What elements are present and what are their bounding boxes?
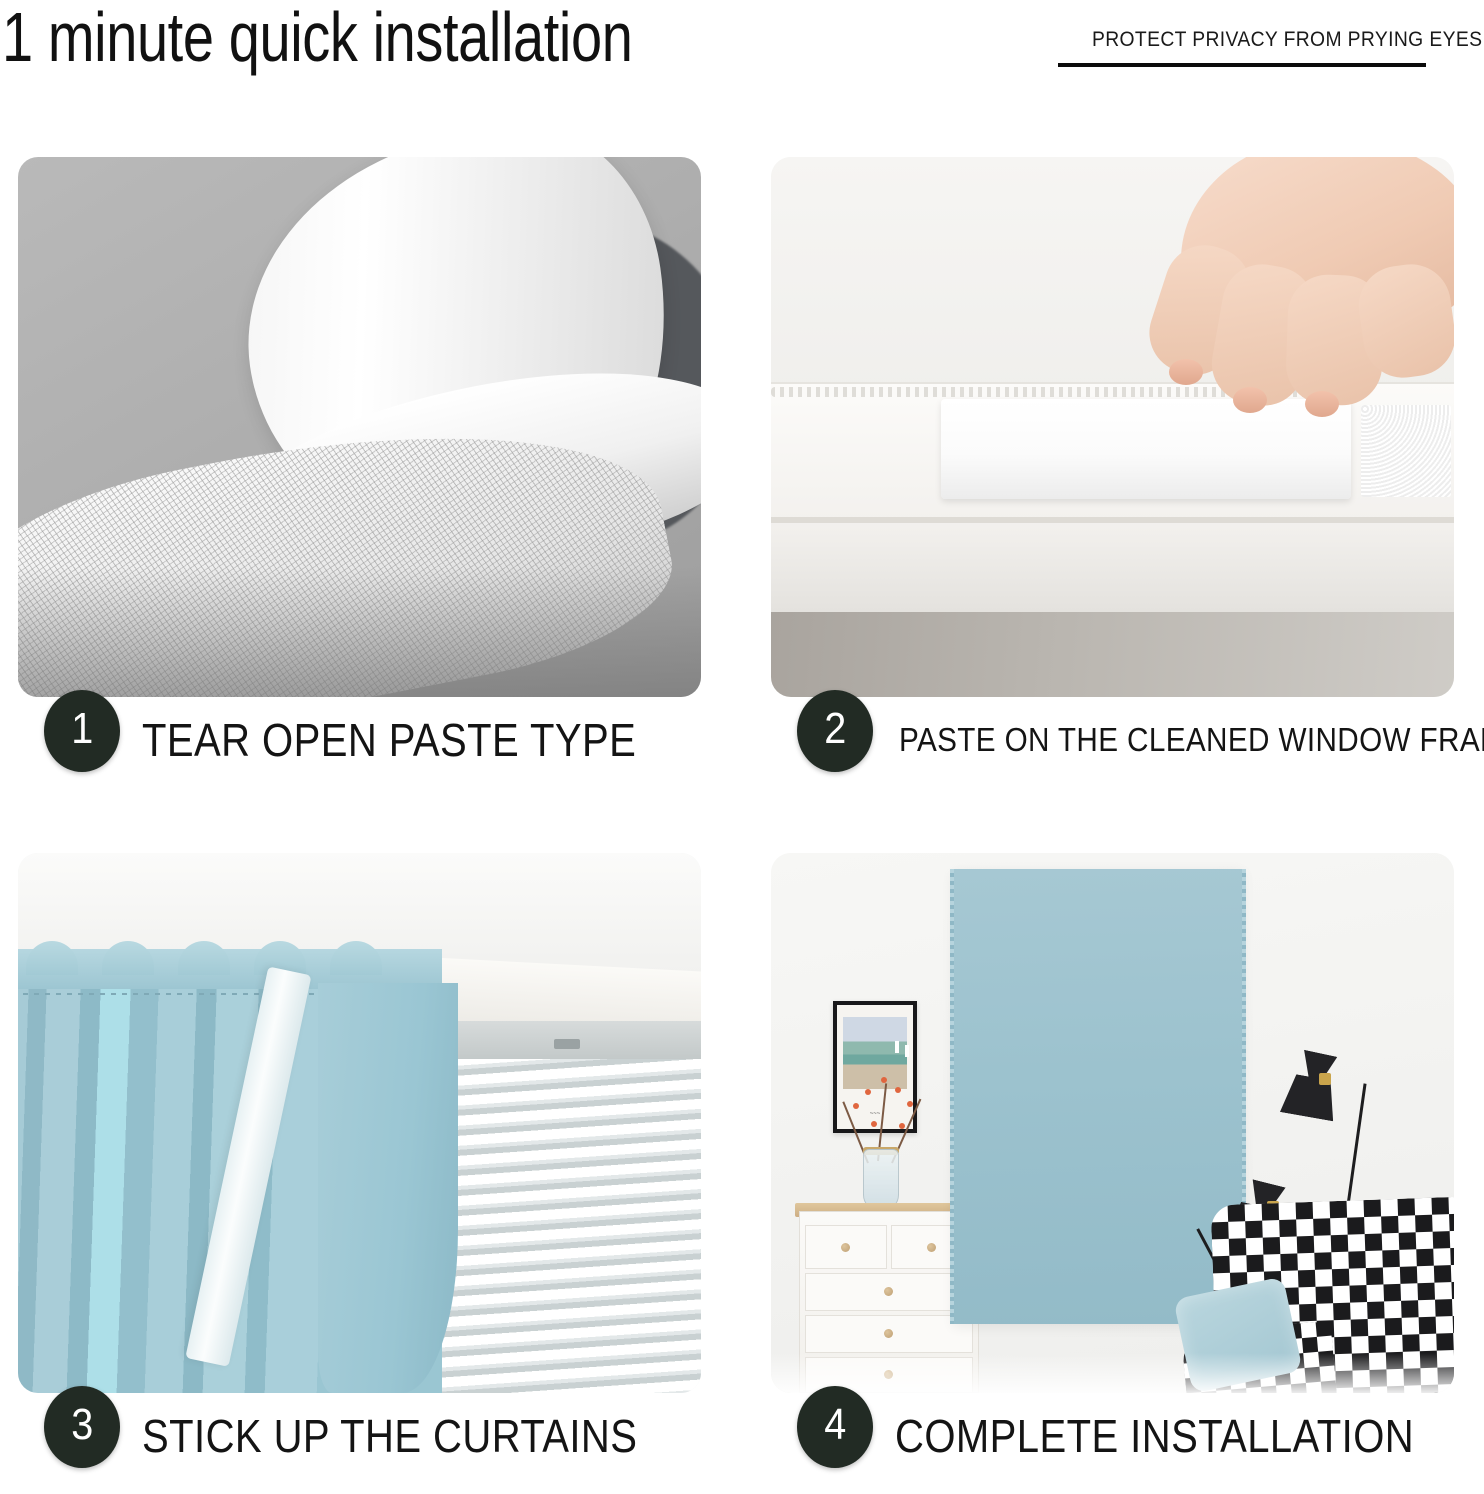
step-1-caption-row: 1 TEAR OPEN PASTE TYPE	[18, 697, 701, 783]
tagline-text: PROTECT PRIVACY FROM PRYING EYES	[1092, 28, 1482, 52]
step-1-caption: TEAR OPEN PASTE TYPE	[142, 713, 636, 767]
page-title: 1 minute quick installation	[2, 0, 632, 76]
berry	[871, 1121, 877, 1127]
tagline-block: PROTECT PRIVACY FROM PRYING EYES	[1058, 28, 1482, 67]
berry	[895, 1087, 901, 1093]
hand-illustration	[1121, 157, 1454, 437]
step-3-caption: STICK UP THE CURTAINS	[142, 1409, 637, 1463]
glass-vase	[863, 1149, 899, 1211]
sailboat	[905, 1045, 909, 1057]
drawer-knob	[841, 1243, 850, 1252]
fingernail-2	[1233, 387, 1267, 413]
berry	[881, 1077, 887, 1083]
step-1-photo	[18, 157, 701, 697]
berry	[853, 1103, 859, 1109]
step-4-caption: COMPLETE INSTALLATION	[895, 1409, 1414, 1463]
step-4-caption-row: 4 COMPLETE INSTALLATION	[771, 1393, 1454, 1479]
tape-shadow	[18, 567, 701, 697]
blind-clip	[554, 1039, 580, 1049]
step-panel-4: ~~~	[771, 853, 1454, 1479]
step-badge-4: 4	[797, 1386, 873, 1468]
drawer-knob	[884, 1287, 893, 1296]
step-badge-3: 3	[44, 1386, 120, 1468]
step-panel-2: 2 PASTE ON THE CLEANED WINDOW FRAME	[771, 157, 1454, 783]
step-2-caption-row: 2 PASTE ON THE CLEANED WINDOW FRAME	[771, 697, 1454, 783]
step-badge-2-number: 2	[824, 707, 846, 751]
step-badge-2: 2	[797, 690, 873, 772]
step-badge-1: 1	[44, 690, 120, 772]
step-4-photo: ~~~	[771, 853, 1454, 1393]
step-2-photo	[771, 157, 1454, 697]
photo-bottom-fade	[771, 1353, 1454, 1393]
step-3-caption-row: 3 STICK UP THE CURTAINS	[18, 1393, 701, 1479]
berry-branches	[837, 1063, 929, 1159]
grey-wall-below	[771, 612, 1454, 697]
berry	[865, 1089, 871, 1095]
berry	[907, 1101, 913, 1107]
step-3-photo	[18, 853, 701, 1393]
fingernail-1	[1169, 359, 1203, 385]
frame-edge	[771, 517, 1454, 523]
header: 1 minute quick installation PROTECT PRIV…	[0, 0, 1484, 140]
step-badge-1-number: 1	[71, 707, 93, 751]
step-badge-4-number: 4	[824, 1403, 846, 1447]
fingernail-3	[1305, 391, 1339, 417]
infographic-page: 1 minute quick installation PROTECT PRIV…	[0, 0, 1484, 1494]
curtain-folded-corner	[318, 983, 458, 1393]
step-panel-1: 1 TEAR OPEN PASTE TYPE	[18, 157, 701, 783]
steps-grid: 1 TEAR OPEN PASTE TYPE	[18, 157, 1470, 1479]
drawer-knob	[927, 1243, 936, 1252]
step-panel-3: 3 STICK UP THE CURTAINS	[18, 853, 701, 1479]
drawer-knob	[884, 1329, 893, 1338]
berry	[899, 1123, 905, 1129]
step-badge-3-number: 3	[71, 1403, 93, 1447]
step-2-caption: PASTE ON THE CLEANED WINDOW FRAME	[899, 721, 1484, 759]
installed-blue-curtain	[953, 869, 1243, 1324]
sailboat	[895, 1041, 899, 1053]
tagline-divider	[1058, 63, 1426, 67]
lamp-brass-joint-1	[1319, 1073, 1331, 1085]
